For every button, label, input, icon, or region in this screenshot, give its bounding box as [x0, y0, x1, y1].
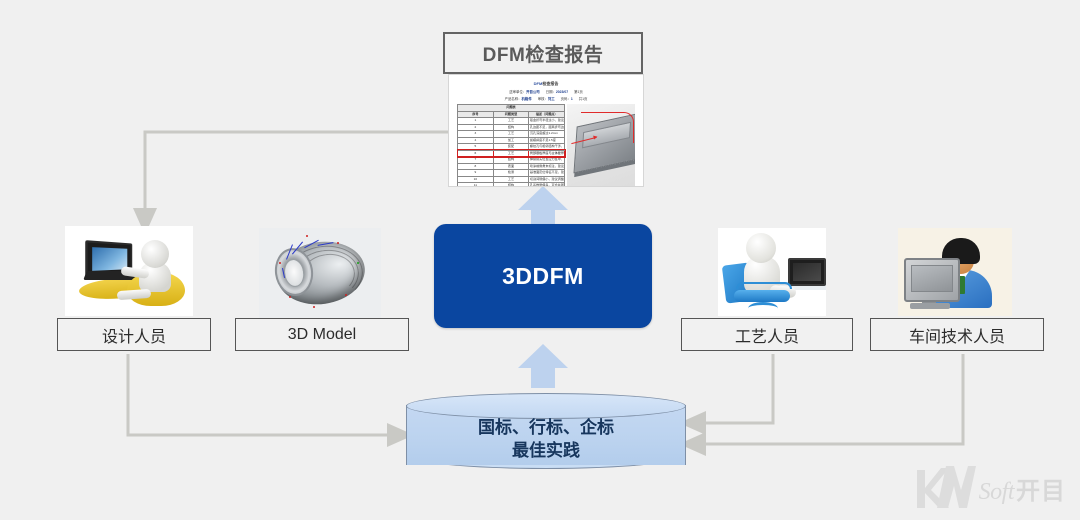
report-preview-issue-table: 问题表序号问题类型描述（问题点）1工艺钣金折弯半径过小，建议加大折弯内半径至板厚…	[457, 104, 565, 187]
report-table-cell: 孔系数量偏多，可合并同类孔位	[529, 183, 565, 187]
report-preview-thumbnail: DFM检查报告 送审单位：开目公司 日期：2023/07 第1页 产品名称：机箱…	[448, 74, 644, 187]
arrow-process-to-repository	[700, 354, 773, 423]
report-preview-heading: DFM检查报告	[457, 78, 635, 87]
arrow-shop-to-repository	[700, 354, 963, 444]
watermark-soft-text: Soft	[979, 479, 1014, 506]
arrow-repository-to-core	[518, 344, 568, 388]
person-at-monitor-icon	[898, 228, 1012, 316]
node-label-designer-text: 设计人员	[102, 323, 166, 347]
arrow-designer-to-repository	[128, 354, 393, 435]
arrow-report-to-designer	[145, 132, 448, 214]
core-label: 3DDFM	[502, 263, 584, 290]
report-preview-meta-row-1: 送审单位：开目公司 日期：2023/07 第1页	[457, 89, 635, 94]
cad-model-icon	[259, 228, 381, 318]
node-label-shop[interactable]: 车间技术人员	[870, 318, 1044, 351]
node-label-designer[interactable]: 设计人员	[57, 318, 211, 351]
repository-label-line2: 最佳实践	[406, 440, 686, 463]
node-label-shop-text: 车间技术人员	[909, 323, 1005, 347]
person-at-laptop-icon	[65, 226, 193, 316]
report-table-row: 11结构孔系数量偏多，可合并同类孔位	[458, 183, 565, 187]
node-label-process-text: 工艺人员	[735, 323, 799, 347]
node-label-model[interactable]: 3D Model	[235, 318, 409, 351]
kmsoft-watermark: Soft 开目	[913, 464, 1066, 510]
report-preview-3d-view	[567, 104, 635, 187]
repository-label: 国标、行标、企标 最佳实践	[406, 417, 686, 463]
person-on-office-chair-icon	[718, 228, 826, 316]
diagram-canvas: DFM检查报告 DFM检查报告 送审单位：开目公司 日期：2023/07 第1页…	[0, 0, 1080, 520]
arrow-core-to-report	[518, 186, 568, 225]
core-3ddfm-node[interactable]: 3DDFM	[434, 224, 652, 328]
standards-repository-cylinder[interactable]: 国标、行标、企标 最佳实践	[406, 393, 686, 476]
report-title-label: DFM检查报告	[483, 40, 604, 67]
repository-label-line1: 国标、行标、企标	[406, 417, 686, 440]
node-label-model-text: 3D Model	[288, 326, 356, 344]
km-logo-icon	[913, 464, 977, 510]
report-preview-meta-row-2: 产品名称：机箱件 审核：刘工 页码：1 共1页	[457, 96, 635, 101]
watermark-cn-text: 开目	[1016, 471, 1066, 506]
cylinder-top	[406, 393, 686, 419]
report-table-cell: 11	[458, 183, 494, 187]
node-label-process[interactable]: 工艺人员	[681, 318, 853, 351]
report-table-cell: 结构	[493, 183, 529, 187]
report-title-box: DFM检查报告	[443, 32, 643, 74]
